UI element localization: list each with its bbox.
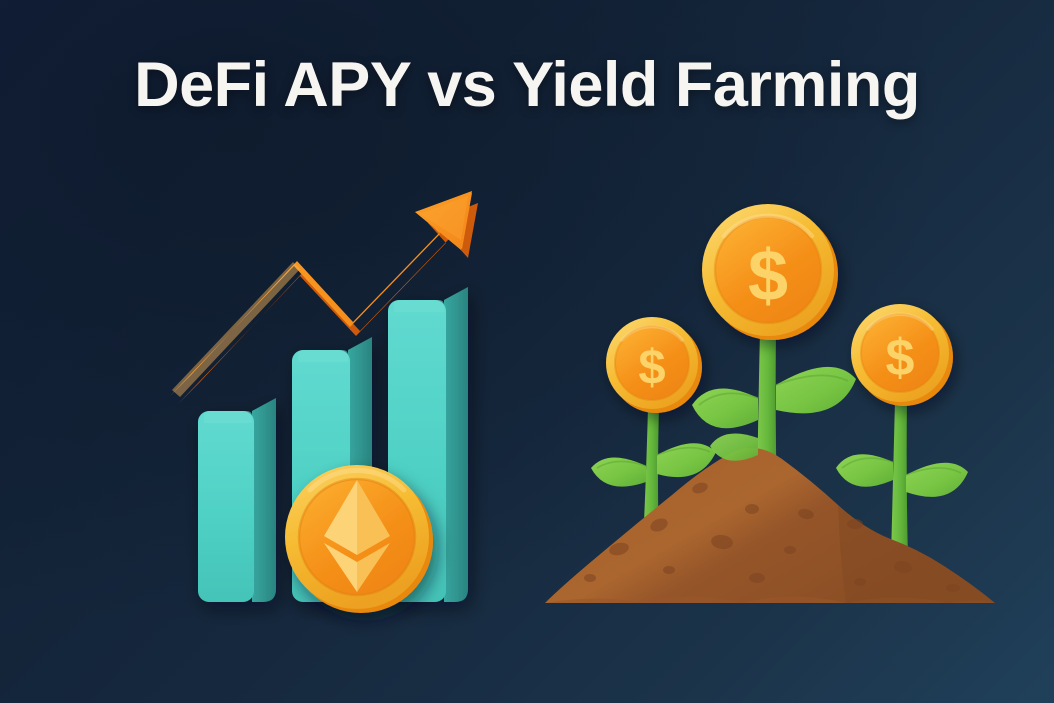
right-illustration-yield-farming: $ $ xyxy=(0,0,1054,703)
svg-text:$: $ xyxy=(886,329,915,387)
svg-text:$: $ xyxy=(638,341,665,395)
dollar-coin-icon-left: $ xyxy=(606,317,702,413)
dollar-coin-icon-right: $ xyxy=(851,304,953,406)
svg-text:$: $ xyxy=(748,236,788,316)
poster-canvas: DeFi APY vs Yield Farming xyxy=(0,0,1054,703)
dollar-coin-icon-center: $ xyxy=(702,204,838,340)
